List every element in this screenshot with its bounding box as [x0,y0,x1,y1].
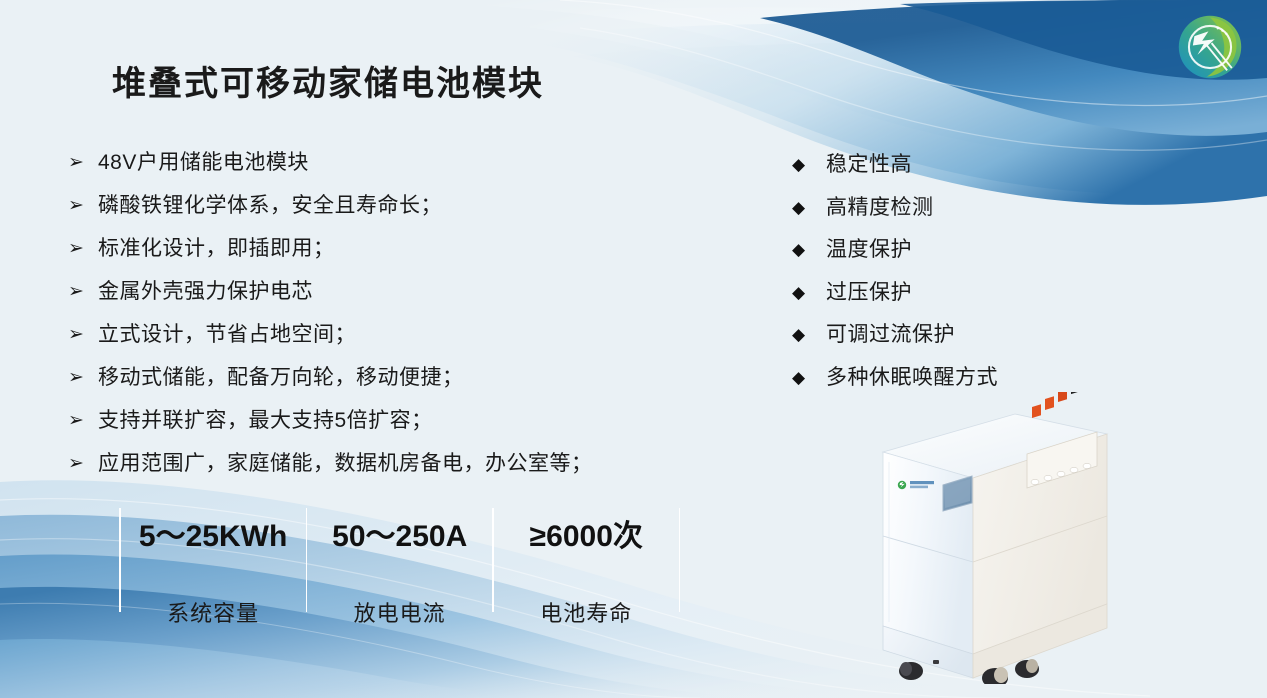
list-item-label: 48V户用储能电池模块 [98,150,309,176]
stat-divider [119,508,121,612]
arrow-bullet-icon: ➢ [68,451,98,477]
diamond-bullet-icon: ◆ [792,152,826,178]
list-item: ◆ 高精度检测 [792,195,1072,238]
stat-discharge-current: 50～250A 放电电流 [318,508,481,628]
list-item: ➢ 应用范围广，家庭储能，数据机房备电，办公室等； [68,451,718,494]
leaf-bolt-circle-logo-icon [1171,8,1249,86]
battery-cabinet-product-image [875,392,1110,684]
arrow-bullet-icon: ➢ [68,236,98,262]
arrow-bullet-icon: ➢ [68,279,98,305]
list-item: ➢ 移动式储能，配备万向轮，移动便捷； [68,365,718,408]
list-item-label: 金属外壳强力保护电芯 [98,279,313,305]
arrow-bullet-icon: ➢ [68,365,98,391]
list-item: ➢ 48V户用储能电池模块 [68,150,718,193]
stat-label: 系统容量 [167,596,259,628]
list-item: ◆ 可调过流保护 [792,322,1072,365]
right-feature-list: ◆ 稳定性高 ◆ 高精度检测 ◆ 温度保护 ◆ 过压保护 ◆ 可调过流保护 ◆ … [792,152,1072,407]
diamond-bullet-icon: ◆ [792,237,826,263]
stat-battery-life: ≥6000次 电池寿命 [505,508,668,628]
list-item: ➢ 立式设计，节省占地空间； [68,322,718,365]
list-item-label: 移动式储能，配备万向轮，移动便捷； [98,365,464,391]
stat-divider [492,508,494,612]
stat-label: 电池寿命 [540,596,632,628]
diamond-bullet-icon: ◆ [792,195,826,221]
diamond-bullet-icon: ◆ [792,365,826,391]
arrow-bullet-icon: ➢ [68,193,98,219]
list-item-label: 温度保护 [826,237,912,263]
diamond-bullet-icon: ◆ [792,280,826,306]
list-item-label: 多种休眠唤醒方式 [826,365,998,391]
slide-canvas: 堆叠式可移动家储电池模块 ➢ 48V户用储能电池模块 [0,0,1267,698]
list-item: ◆ 过压保护 [792,280,1072,323]
list-item: ◆ 稳定性高 [792,152,1072,195]
stat-system-capacity: 5～25KWh 系统容量 [132,508,295,628]
list-item-label: 过压保护 [826,280,912,306]
stat-value: 50～250A [332,522,467,552]
list-item-label: 高精度检测 [826,195,934,221]
list-item-label: 立式设计，节省占地空间； [98,322,356,348]
arrow-bullet-icon: ➢ [68,150,98,176]
spec-stats-row: 5～25KWh 系统容量 50～250A 放电电流 ≥6000次 电池寿命 [108,508,691,628]
list-item-label: 稳定性高 [826,152,912,178]
stat-value: 5～25KWh [139,522,287,552]
list-item-label: 磷酸铁锂化学体系，安全且寿命长； [98,193,442,219]
stat-label: 放电电流 [354,596,446,628]
list-item: ◆ 温度保护 [792,237,1072,280]
list-item: ➢ 标准化设计，即插即用； [68,236,718,279]
diamond-bullet-icon: ◆ [792,322,826,348]
list-item-label: 标准化设计，即插即用； [98,236,335,262]
list-item-label: 可调过流保护 [826,322,955,348]
list-item: ➢ 支持并联扩容，最大支持5倍扩容； [68,408,718,451]
left-feature-list: ➢ 48V户用储能电池模块 ➢ 磷酸铁锂化学体系，安全且寿命长； ➢ 标准化设计… [68,150,718,494]
list-item: ➢ 磷酸铁锂化学体系，安全且寿命长； [68,193,718,236]
stat-divider [679,508,681,612]
arrow-bullet-icon: ➢ [68,322,98,348]
page-title: 堆叠式可移动家储电池模块 [112,56,544,105]
arrow-bullet-icon: ➢ [68,408,98,434]
list-item-label: 应用范围广，家庭储能，数据机房备电，办公室等； [98,451,593,477]
stat-divider [306,508,308,612]
list-item-label: 支持并联扩容，最大支持5倍扩容； [98,408,433,434]
stat-value: ≥6000次 [530,522,643,552]
list-item: ➢ 金属外壳强力保护电芯 [68,279,718,322]
